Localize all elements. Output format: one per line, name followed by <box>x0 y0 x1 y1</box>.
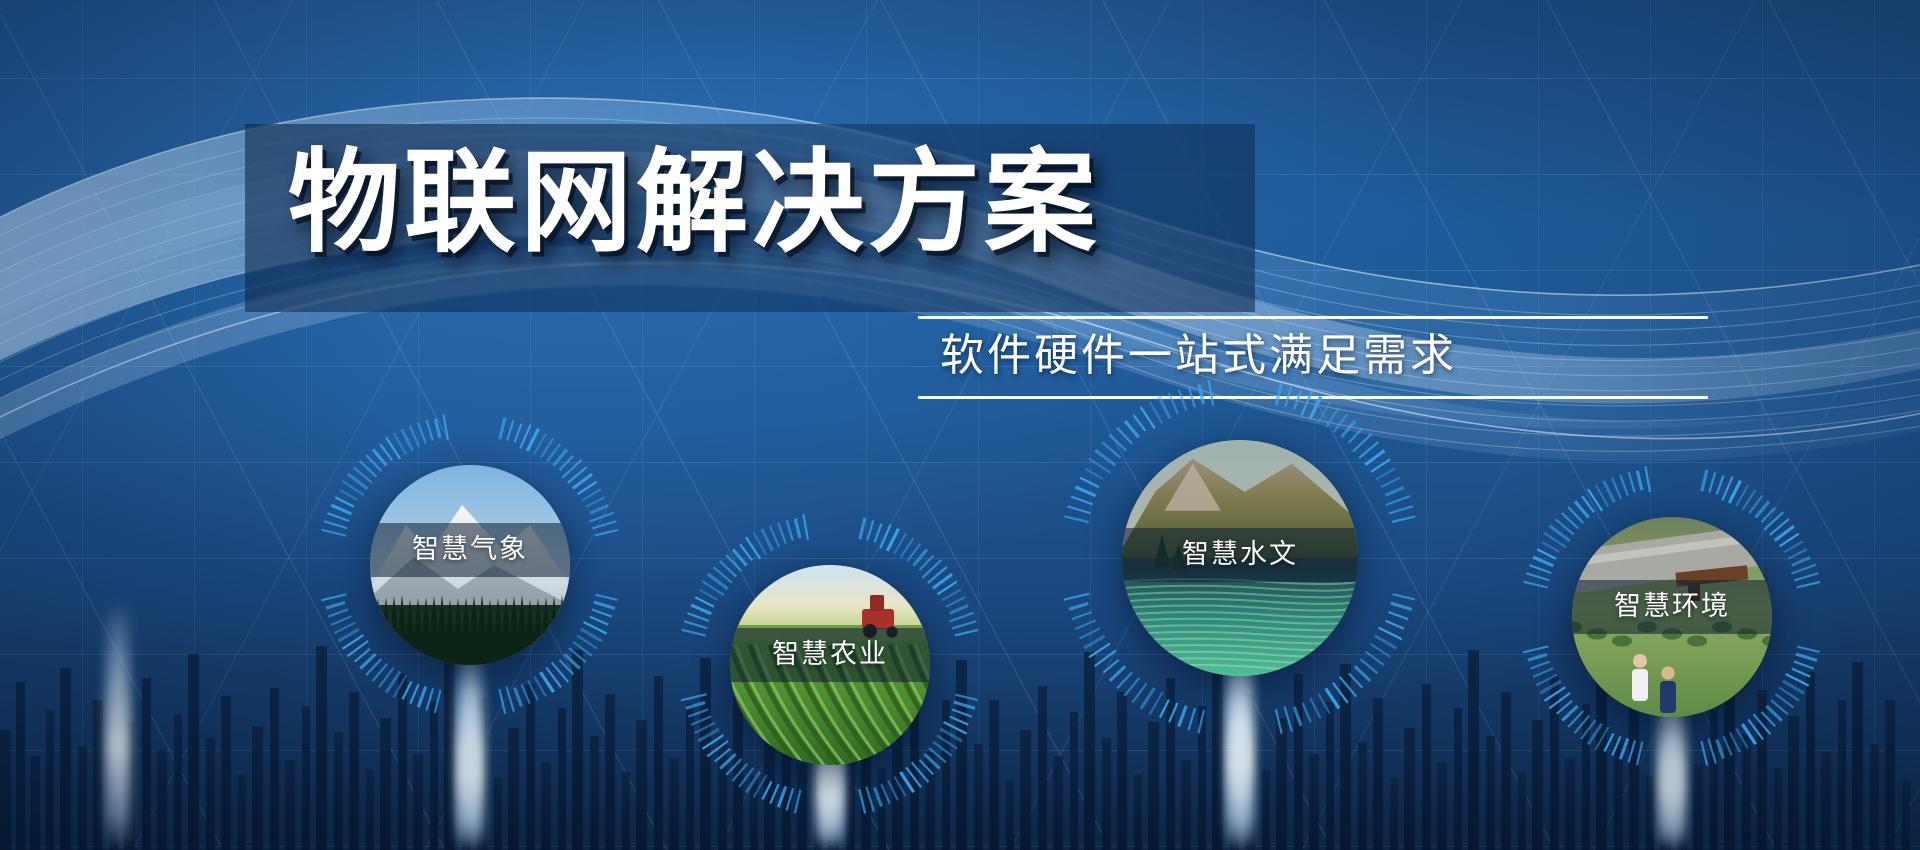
feature-label-smart-agriculture: 智慧农业 <box>730 628 930 682</box>
feature-label-smart-environment: 智慧环境 <box>1572 580 1772 634</box>
feature-photo-disc-smart-environment[interactable]: 智慧环境 <box>1572 517 1772 717</box>
feature-label-smart-meteorology: 智慧气象 <box>370 523 570 577</box>
feature-circle-smart-environment[interactable]: 智慧环境 <box>1502 447 1842 787</box>
feature-photo-disc-smart-agriculture[interactable]: 智慧农业 <box>730 565 930 765</box>
feature-circle-smart-meteorology[interactable]: 智慧气象 <box>300 395 640 735</box>
iot-solution-banner: 物联网解决方案 软件硬件一站式满足需求 智慧气象智慧农业智慧水文智慧环境 <box>0 0 1920 850</box>
feature-circle-smart-hydrology[interactable]: 智慧水文 <box>1042 360 1438 756</box>
feature-photo-disc-smart-hydrology[interactable]: 智慧水文 <box>1122 440 1358 676</box>
subtitle-rule-top <box>918 316 1708 319</box>
feature-circle-smart-agriculture[interactable]: 智慧农业 <box>660 495 1000 835</box>
feature-photo-disc-smart-meteorology[interactable]: 智慧气象 <box>370 465 570 665</box>
page-title: 物联网解决方案 <box>288 144 1100 262</box>
feature-label-smart-hydrology: 智慧水文 <box>1122 528 1358 582</box>
